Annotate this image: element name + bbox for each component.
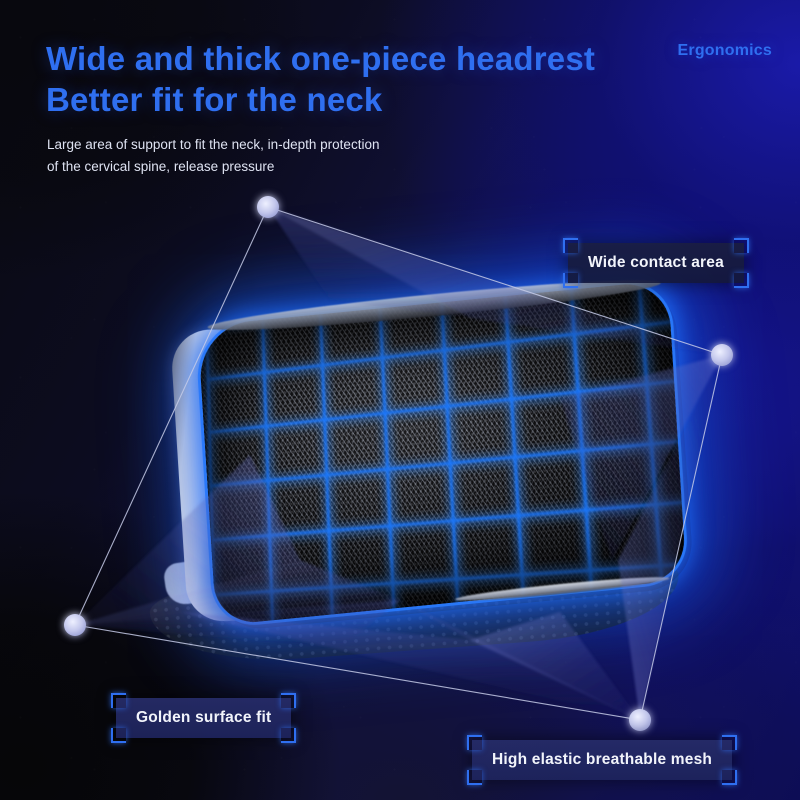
callout-label: Wide contact area	[588, 254, 724, 272]
subcopy-line-2: of the cervical spine, release pressure	[47, 156, 477, 178]
corner-bracket-bottom-right-icon	[734, 273, 749, 288]
corner-bracket-bottom-right-icon	[281, 728, 296, 743]
corner-bracket-bottom-left-icon	[467, 770, 482, 785]
callout-golden-surface-fit: Golden surface fit	[116, 698, 291, 738]
subtitle-copy: Large area of support to fit the neck, i…	[47, 134, 477, 178]
corner-bracket-top-left-icon	[467, 735, 482, 750]
callout-label: Golden surface fit	[136, 709, 271, 727]
headrest-assembly	[198, 280, 687, 625]
headrest-mesh-panel	[198, 280, 687, 625]
product-banner: Wide and thick one-piece headrest Better…	[0, 0, 800, 800]
corner-bracket-top-right-icon	[734, 238, 749, 253]
corner-bracket-bottom-left-icon	[563, 273, 578, 288]
corner-bracket-bottom-right-icon	[722, 770, 737, 785]
corner-bracket-bottom-left-icon	[111, 728, 126, 743]
corner-bracket-top-left-icon	[563, 238, 578, 253]
headline-line-1: Wide and thick one-piece headrest	[46, 40, 595, 77]
eyebrow-label: Ergonomics	[678, 42, 772, 60]
callout-wide-contact-area: Wide contact area	[568, 243, 744, 283]
corner-bracket-top-right-icon	[722, 735, 737, 750]
subcopy-line-1: Large area of support to fit the neck, i…	[47, 134, 477, 156]
corner-bracket-top-left-icon	[111, 693, 126, 708]
page-title: Wide and thick one-piece headrest Better…	[46, 38, 656, 121]
callout-high-elastic-breathable-mesh: High elastic breathable mesh	[472, 740, 732, 780]
headrest-inner-vignette	[198, 280, 687, 625]
callout-label: High elastic breathable mesh	[492, 751, 712, 769]
corner-bracket-top-right-icon	[281, 693, 296, 708]
headline-line-2: Better fit for the neck	[46, 79, 656, 120]
